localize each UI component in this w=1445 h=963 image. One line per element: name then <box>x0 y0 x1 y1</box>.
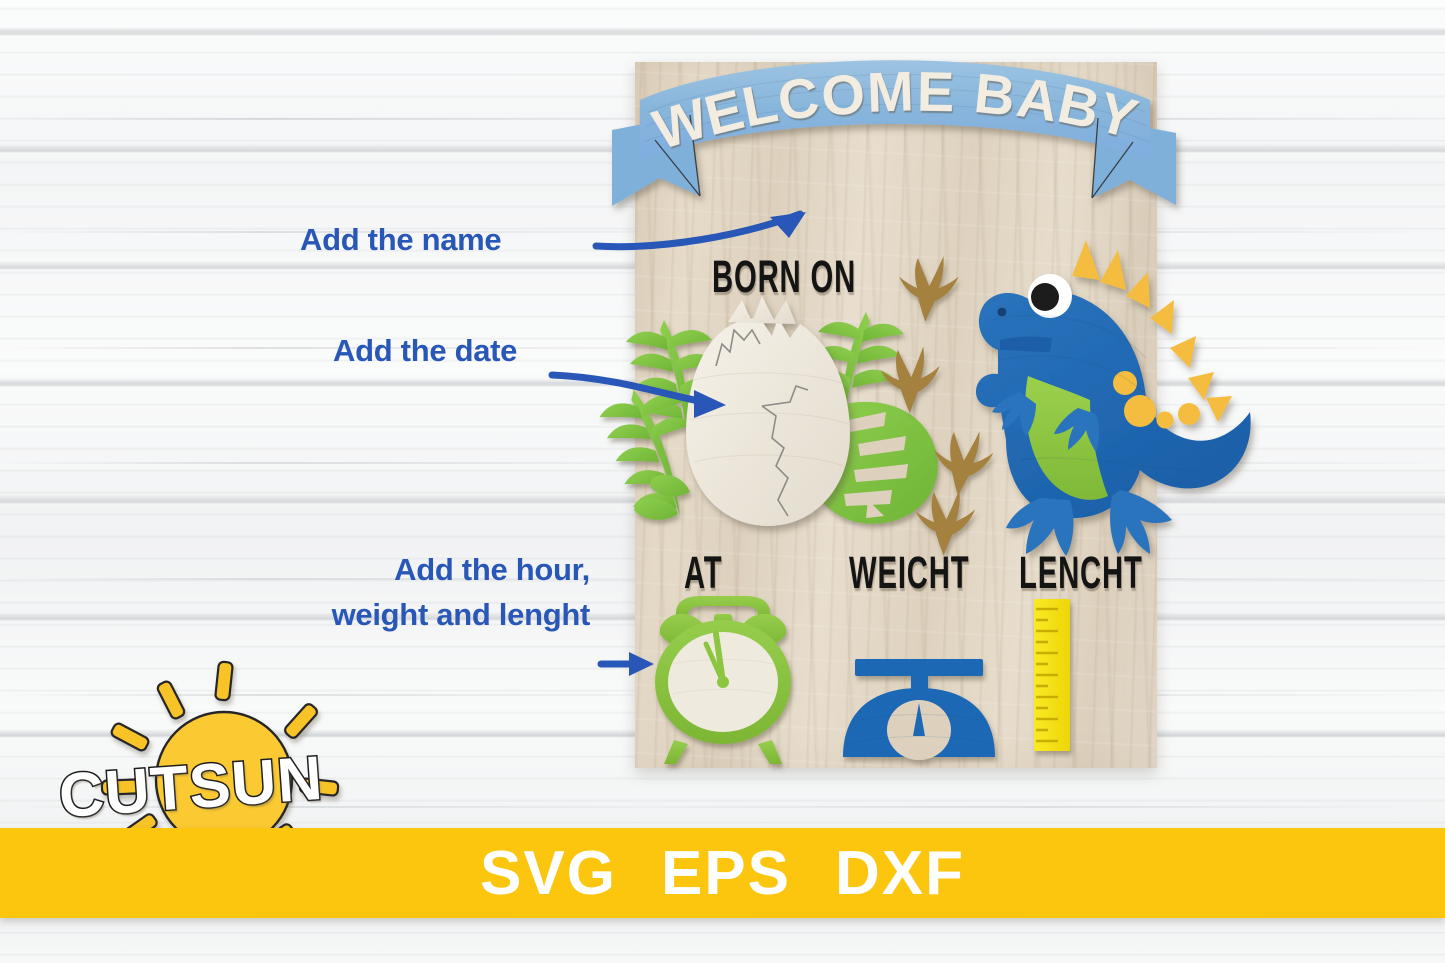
formats-list: SVG EPS DXF <box>480 838 965 909</box>
format-dxf: DXF <box>835 838 965 909</box>
welcome-banner-text: W E L C O M E B A B Y <box>600 58 1190 218</box>
format-eps: EPS <box>661 838 791 909</box>
hint-add-details: Add the hour, weight and lenght <box>300 548 590 637</box>
welcome-banner: W E L C O M E B A B Y <box>600 58 1190 258</box>
label-at: AT <box>684 548 723 600</box>
baby-dinosaur-icon <box>976 240 1251 556</box>
ruler-icon <box>1034 599 1070 751</box>
hint-add-name: Add the name <box>300 222 501 258</box>
format-svg: SVG <box>480 838 617 909</box>
label-weight: WEICHT <box>849 548 969 600</box>
label-length: LENCHT <box>1019 548 1143 600</box>
label-born-on: BORN ON <box>712 252 856 304</box>
hint-add-date: Add the date <box>333 333 517 369</box>
formats-banner: SVG EPS DXF <box>0 828 1445 918</box>
kitchen-scale-icon <box>843 659 995 760</box>
canvas-stage: W E L C O M E B A B Y BORN ON AT WEICHT … <box>0 0 1445 963</box>
alarm-clock-icon <box>655 596 791 764</box>
